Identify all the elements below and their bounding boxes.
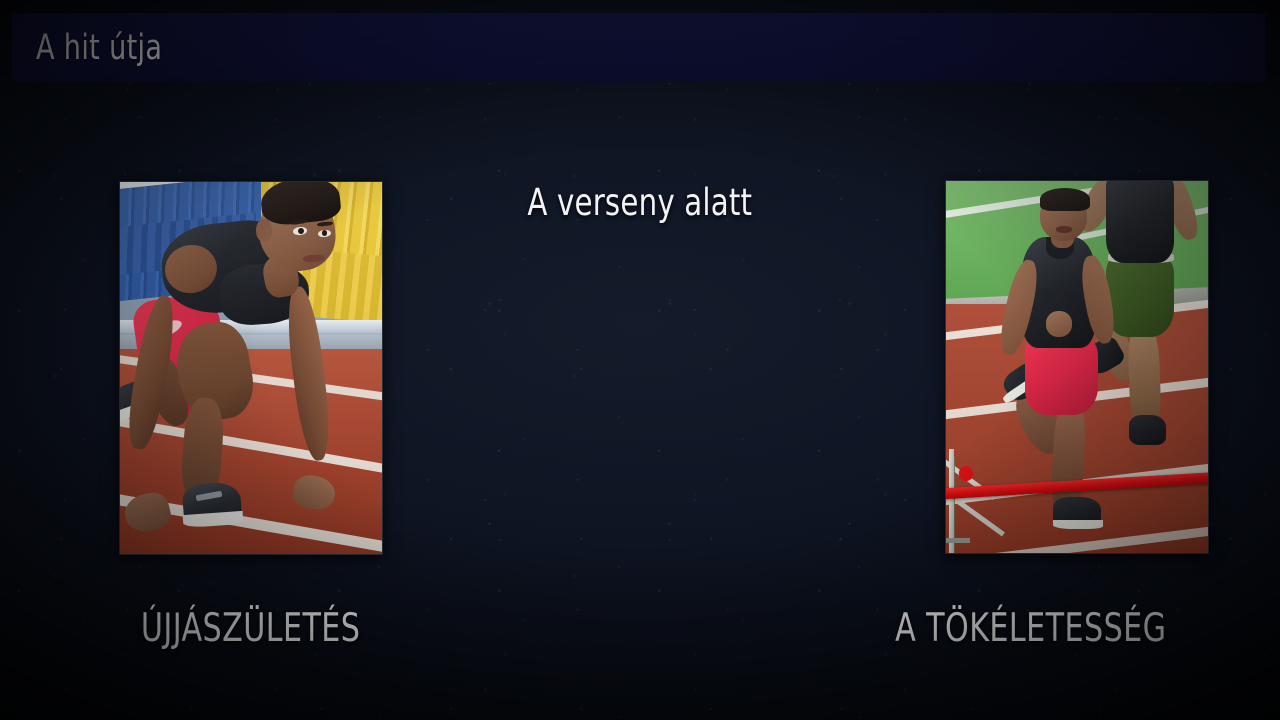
front-runner-mouth bbox=[1056, 226, 1072, 233]
athlete-ear bbox=[256, 219, 272, 241]
photo-finish-line bbox=[945, 180, 1209, 554]
hurdle-foot bbox=[946, 538, 970, 543]
front-runner-hair bbox=[1040, 188, 1090, 210]
back-runner-front-shoe bbox=[1129, 415, 1166, 445]
caption-left: ÚJJÁSZÜLETÉS bbox=[0, 606, 502, 651]
caption-left-text: ÚJJÁSZÜLETÉS bbox=[141, 606, 361, 651]
athlete-mouth bbox=[303, 254, 324, 262]
caption-right: A TÖKÉLETESSÉG bbox=[780, 606, 1280, 651]
page-title: A hit útja bbox=[36, 28, 162, 68]
photo-right-scene bbox=[946, 181, 1208, 553]
center-heading-text: A verseny alatt bbox=[528, 181, 753, 224]
front-runner-front-shoe-sole bbox=[1053, 520, 1103, 530]
front-runner-fist bbox=[1046, 311, 1072, 337]
title-banner: A hit útja bbox=[12, 13, 1265, 82]
caption-right-text: A TÖKÉLETESSÉG bbox=[895, 606, 1166, 651]
photo-starting-block bbox=[119, 181, 383, 555]
slide-canvas: A hit útja A verseny alatt bbox=[0, 0, 1280, 720]
photo-left-scene bbox=[120, 182, 382, 554]
back-runner-shorts bbox=[1106, 255, 1174, 337]
back-runner-top bbox=[1106, 180, 1174, 263]
